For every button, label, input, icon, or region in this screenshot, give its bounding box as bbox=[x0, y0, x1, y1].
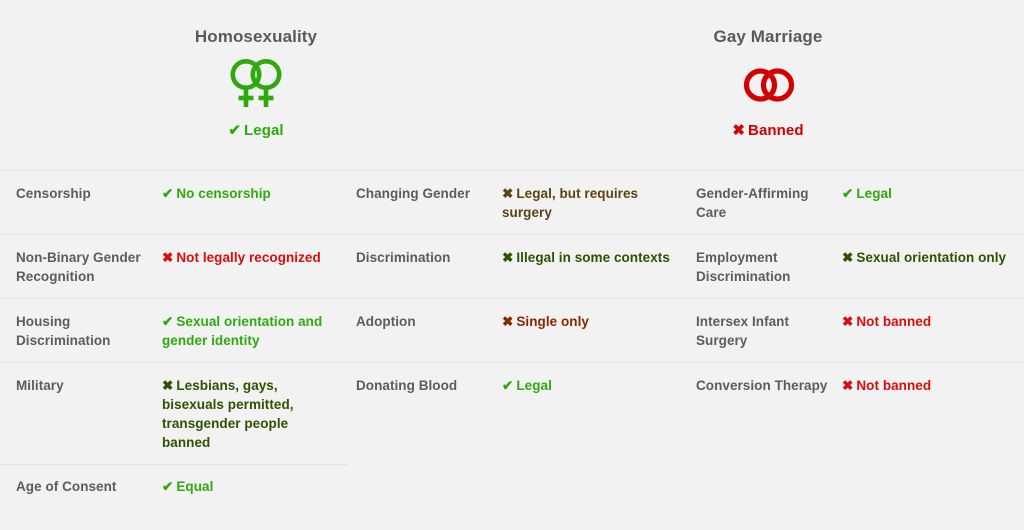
row-value: ✖Lesbians, gays, bisexuals permitted, tr… bbox=[162, 376, 340, 452]
cross-mark-icon: ✖ bbox=[502, 314, 513, 329]
row-value: ✔Sexual orientation and gender identity bbox=[162, 312, 340, 350]
row-label: Employment Discrimination bbox=[680, 248, 842, 286]
row-value-text: Single only bbox=[516, 314, 589, 329]
check-mark-icon: ✔ bbox=[842, 186, 853, 201]
row-value: ✖Not banned bbox=[842, 376, 1020, 452]
header-status-label: Banned bbox=[748, 122, 804, 139]
row-label: Discrimination bbox=[340, 248, 502, 286]
table-cell-pair: Intersex Infant Surgery ✖Not banned bbox=[680, 299, 1024, 362]
row-label: Intersex Infant Surgery bbox=[680, 312, 842, 350]
table-row: Military ✖Lesbians, gays, bisexuals perm… bbox=[0, 362, 1024, 464]
check-mark-icon: ✔ bbox=[502, 378, 513, 393]
row-value-text: Lesbians, gays, bisexuals permitted, tra… bbox=[162, 378, 294, 450]
cross-mark-icon: ✖ bbox=[502, 250, 513, 265]
row-value bbox=[842, 477, 1020, 496]
cross-mark-icon: ✖ bbox=[842, 314, 853, 329]
header-status-homosexuality: ✔Legal bbox=[228, 121, 283, 139]
row-value-text: Legal bbox=[856, 186, 892, 201]
cross-mark-icon: ✖ bbox=[162, 378, 173, 393]
row-value-text: Illegal in some contexts bbox=[516, 250, 670, 265]
table-cell-pair-empty bbox=[340, 464, 680, 508]
row-value: ✔No censorship bbox=[162, 184, 340, 222]
header-status-label: Legal bbox=[244, 122, 284, 139]
table-cell-pair: Housing Discrimination ✔Sexual orientati… bbox=[0, 299, 340, 362]
row-value-text: No censorship bbox=[176, 186, 270, 201]
header-column-gay-marriage: Gay Marriage ✖Banned bbox=[512, 0, 1024, 170]
header-title-gay-marriage: Gay Marriage bbox=[714, 26, 823, 48]
row-value-text: Equal bbox=[176, 479, 213, 494]
row-label: Military bbox=[0, 376, 162, 452]
row-value-text: Legal, but requires surgery bbox=[502, 186, 638, 220]
cross-mark-icon: ✖ bbox=[842, 378, 853, 393]
row-label: Conversion Therapy bbox=[680, 376, 842, 452]
header-column-homosexuality: Homosexuality ✔Legal bbox=[0, 0, 512, 170]
cross-mark-icon: ✖ bbox=[502, 186, 513, 201]
header-title-homosexuality: Homosexuality bbox=[195, 26, 317, 48]
row-value: ✖Legal, but requires surgery bbox=[502, 184, 680, 222]
cross-mark-icon: ✖ bbox=[842, 250, 853, 265]
row-label: Changing Gender bbox=[340, 184, 502, 222]
row-value-text: Legal bbox=[516, 378, 552, 393]
check-mark-icon: ✔ bbox=[228, 122, 241, 139]
row-label: Gender-Affirming Care bbox=[680, 184, 842, 222]
table-row: Housing Discrimination ✔Sexual orientati… bbox=[0, 298, 1024, 362]
row-value-text: Not legally recognized bbox=[176, 250, 320, 265]
table-cell-pair: Non-Binary Gender Recognition ✖Not legal… bbox=[0, 235, 340, 298]
row-value: ✖Not legally recognized bbox=[162, 248, 340, 286]
row-value-text: Sexual orientation only bbox=[856, 250, 1006, 265]
double-venus-icon bbox=[225, 59, 287, 111]
table-cell-pair: Adoption ✖Single only bbox=[340, 299, 680, 362]
row-label: Non-Binary Gender Recognition bbox=[0, 248, 162, 286]
cross-mark-icon: ✖ bbox=[732, 122, 745, 139]
interlocking-rings-icon bbox=[737, 59, 799, 111]
table-cell-pair-empty bbox=[680, 464, 1024, 508]
table-cell-pair: Conversion Therapy ✖Not banned bbox=[680, 363, 1024, 464]
table-cell-pair: Employment Discrimination ✖Sexual orient… bbox=[680, 235, 1024, 298]
row-value: ✖Not banned bbox=[842, 312, 1020, 350]
row-value-text: Sexual orientation and gender identity bbox=[162, 314, 322, 348]
table-cell-pair: Gender-Affirming Care ✔Legal bbox=[680, 171, 1024, 234]
row-value: ✖Illegal in some contexts bbox=[502, 248, 680, 286]
table-row: Censorship ✔No censorship Changing Gende… bbox=[0, 170, 1024, 234]
row-value: ✔Equal bbox=[162, 477, 340, 496]
row-value: ✖Sexual orientation only bbox=[842, 248, 1020, 286]
row-value bbox=[502, 477, 680, 496]
row-label: Donating Blood bbox=[340, 376, 502, 452]
row-value: ✖Single only bbox=[502, 312, 680, 350]
row-value-text: Not banned bbox=[856, 378, 931, 393]
table-cell-pair: Changing Gender ✖Legal, but requires sur… bbox=[340, 171, 680, 234]
table-row: Age of Consent ✔Equal bbox=[0, 464, 1024, 508]
table-cell-pair: Military ✖Lesbians, gays, bisexuals perm… bbox=[0, 363, 340, 464]
table-cell-pair: Age of Consent ✔Equal bbox=[0, 464, 340, 508]
row-label bbox=[680, 477, 842, 496]
row-label: Housing Discrimination bbox=[0, 312, 162, 350]
check-mark-icon: ✔ bbox=[162, 479, 173, 494]
header-status-gay-marriage: ✖Banned bbox=[732, 121, 803, 139]
row-value: ✔Legal bbox=[502, 376, 680, 452]
check-mark-icon: ✔ bbox=[162, 314, 173, 329]
comparison-header: Homosexuality ✔Legal Gay Marriage bbox=[0, 0, 1024, 170]
row-label: Age of Consent bbox=[0, 477, 162, 496]
check-mark-icon: ✔ bbox=[162, 186, 173, 201]
row-label: Adoption bbox=[340, 312, 502, 350]
table-cell-pair: Donating Blood ✔Legal bbox=[340, 363, 680, 464]
row-value: ✔Legal bbox=[842, 184, 1020, 222]
table-row: Non-Binary Gender Recognition ✖Not legal… bbox=[0, 234, 1024, 298]
table-cell-pair: Censorship ✔No censorship bbox=[0, 171, 340, 234]
row-value-text: Not banned bbox=[856, 314, 931, 329]
cross-mark-icon: ✖ bbox=[162, 250, 173, 265]
row-label: Censorship bbox=[0, 184, 162, 222]
rights-comparison-table: Censorship ✔No censorship Changing Gende… bbox=[0, 170, 1024, 508]
table-cell-pair: Discrimination ✖Illegal in some contexts bbox=[340, 235, 680, 298]
row-label bbox=[340, 477, 502, 496]
